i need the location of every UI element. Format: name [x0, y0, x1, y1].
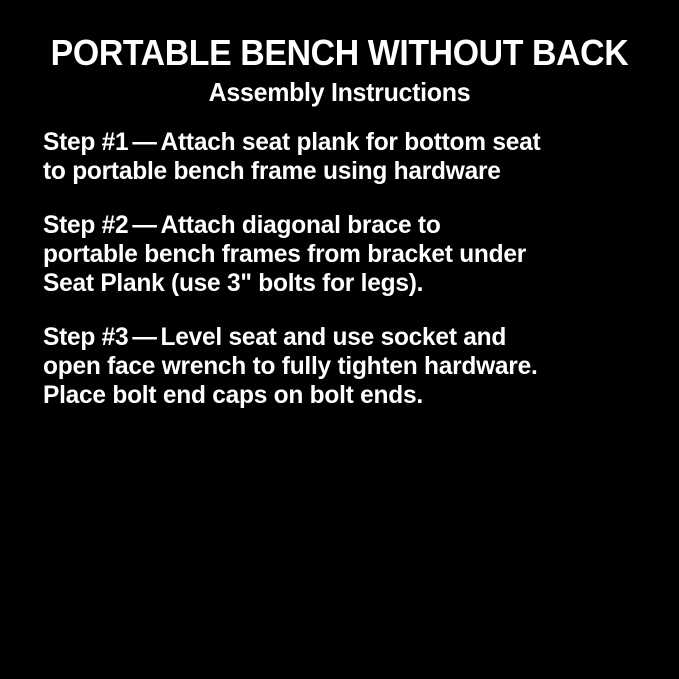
steps-list: Step #1—Attach seat plank for bottom sea… — [0, 128, 679, 410]
step-1-separator: — — [128, 128, 160, 156]
page-subtitle: Assembly Instructions — [14, 78, 666, 106]
poster-header: PORTABLE BENCH WITHOUT BACK Assembly Ins… — [0, 0, 679, 106]
step-3-line-2: open face wrench to fully tighten hardwa… — [43, 352, 641, 381]
step-1-line-1: Step #1—Attach seat plank for bottom sea… — [43, 128, 641, 157]
step-2-separator: — — [128, 211, 160, 239]
step-3-separator: — — [128, 323, 160, 351]
step-3-text-line-1: Level seat and use socket and — [161, 323, 507, 351]
step-3-label: Step #3 — [43, 323, 128, 351]
step-2-line-1: Step #2—Attach diagonal brace to — [43, 211, 641, 240]
step-2-line-2: portable bench frames from bracket under — [43, 240, 641, 269]
step-2-label: Step #2 — [43, 211, 128, 239]
step-block-3: Step #3—Level seat and use socket and op… — [43, 323, 653, 410]
step-2-text-line-1: Attach diagonal brace to — [161, 211, 441, 239]
step-1-text-line-1: Attach seat plank for bottom seat — [161, 128, 541, 156]
step-1-line-2: to portable bench frame using hardware — [43, 157, 641, 186]
step-block-1: Step #1—Attach seat plank for bottom sea… — [43, 128, 653, 186]
step-3-line-3: Place bolt end caps on bolt ends. — [43, 381, 641, 410]
step-2-line-3: Seat Plank (use 3" bolts for legs). — [43, 269, 641, 298]
page-title: PORTABLE BENCH WITHOUT BACK — [20, 34, 658, 72]
step-1-label: Step #1 — [43, 128, 128, 156]
step-3-line-1: Step #3—Level seat and use socket and — [43, 323, 641, 352]
step-block-2: Step #2—Attach diagonal brace to portabl… — [43, 211, 653, 298]
instruction-poster: PORTABLE BENCH WITHOUT BACK Assembly Ins… — [0, 0, 679, 679]
